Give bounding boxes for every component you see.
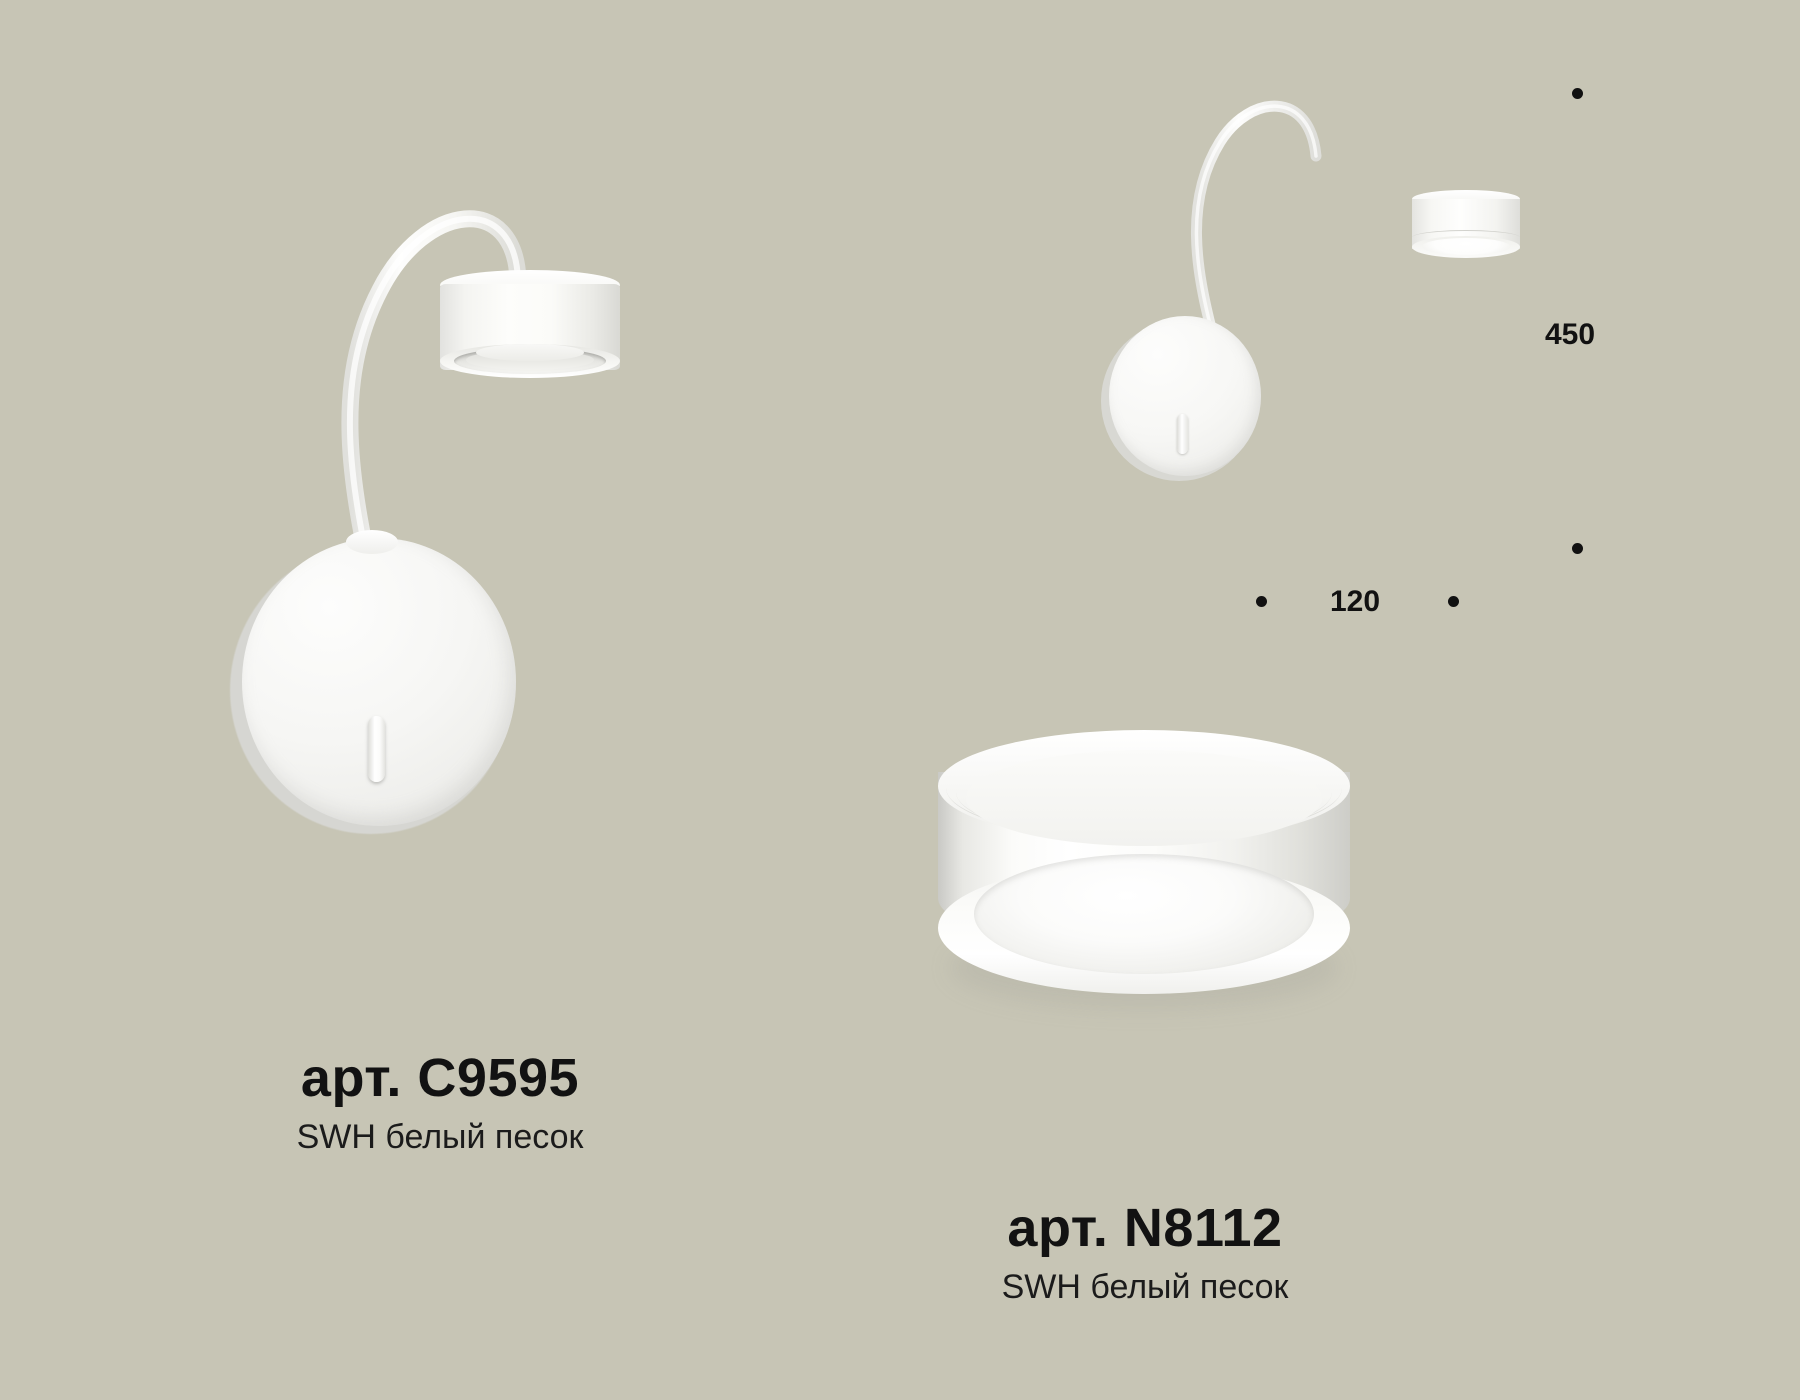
wall-plate <box>228 538 516 836</box>
dimension-value-horizontal: 120 <box>1330 585 1380 619</box>
article-number-c9595: арт. C9595 <box>190 1050 690 1107</box>
dimension-value-vertical: 450 <box>1545 318 1595 352</box>
lamp-head <box>440 270 620 390</box>
lamp-lens <box>476 344 584 361</box>
dimension-dot-right <box>1448 596 1459 607</box>
dimension-dot-left <box>1256 596 1267 607</box>
light-diffuser-disc <box>974 854 1314 974</box>
toggle-switch[interactable] <box>368 716 385 782</box>
wall-plate-disc <box>242 538 516 826</box>
cord-entry <box>346 530 398 554</box>
gooseneck-arm-small <box>1150 80 1350 340</box>
wall-plate-small <box>1101 316 1261 482</box>
lamp-lens-small <box>1422 238 1510 255</box>
ceiling-mount-ring <box>930 730 1360 1018</box>
lamp-head-small <box>1412 190 1520 262</box>
dimension-dot-top <box>1572 88 1583 99</box>
toggle-switch-small[interactable] <box>1177 414 1188 454</box>
mount-rim-inner <box>966 750 1322 846</box>
caption-n8112: арт. N8112 SWH белый песок <box>895 1200 1395 1306</box>
product-spec-canvas: арт. C9595 SWH белый песок <box>0 0 1800 1400</box>
color-name-n8112: SWH белый песок <box>895 1269 1395 1306</box>
dimension-dot-bottom <box>1572 543 1583 554</box>
color-name-c9595: SWH белый песок <box>190 1119 690 1156</box>
article-number-n8112: арт. N8112 <box>895 1200 1395 1257</box>
caption-c9595: арт. C9595 SWH белый песок <box>190 1050 690 1156</box>
